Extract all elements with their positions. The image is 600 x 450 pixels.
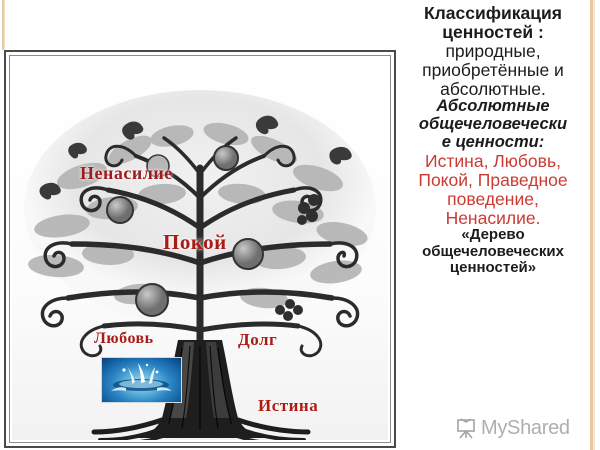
- slide-text-block: Классификация ценностей : природные, при…: [398, 4, 588, 444]
- slide-canvas: Ненасилие Покой Любовь Долг Истина Класс…: [0, 0, 600, 450]
- text-line-1: Классификация: [398, 4, 588, 23]
- tree-label-pokoy: Покой: [163, 230, 227, 255]
- text-line-13: «Дерево: [398, 227, 588, 243]
- text-line-11: поведение,: [398, 190, 588, 209]
- tree-label-istina: Истина: [258, 396, 318, 416]
- text-line-3: природные,: [398, 42, 588, 61]
- text-line-15: ценностей»: [398, 260, 588, 276]
- slide-right-accent-border-light: [593, 0, 595, 450]
- watermark-text: MyShared: [481, 417, 570, 440]
- tree-label-lyubov: Любовь: [94, 330, 154, 348]
- text-line-9: Истина, Любовь,: [398, 152, 588, 171]
- text-line-4: приобретённые и: [398, 61, 588, 80]
- text-line-8: е ценности:: [398, 134, 588, 152]
- text-line-7: общечеловечески: [398, 116, 588, 134]
- slide-left-accent-border-light: [4, 0, 5, 50]
- water-splash-graphic: [102, 358, 181, 402]
- text-line-12: Ненасилие.: [398, 209, 588, 228]
- tree-label-dolg: Долг: [238, 330, 277, 350]
- tree-label-nenasilie: Ненасилие: [80, 163, 173, 184]
- text-line-6: Абсолютные: [398, 98, 588, 116]
- myshared-watermark: MyShared: [455, 413, 585, 443]
- text-line-14: общечеловеческих: [398, 244, 588, 260]
- text-line-5: абсолютные.: [398, 80, 588, 99]
- text-line-2: ценностей :: [398, 23, 588, 42]
- easel-icon: [455, 417, 477, 439]
- text-line-10: Покой, Праведное: [398, 171, 588, 190]
- water-splash-photo: [101, 357, 182, 403]
